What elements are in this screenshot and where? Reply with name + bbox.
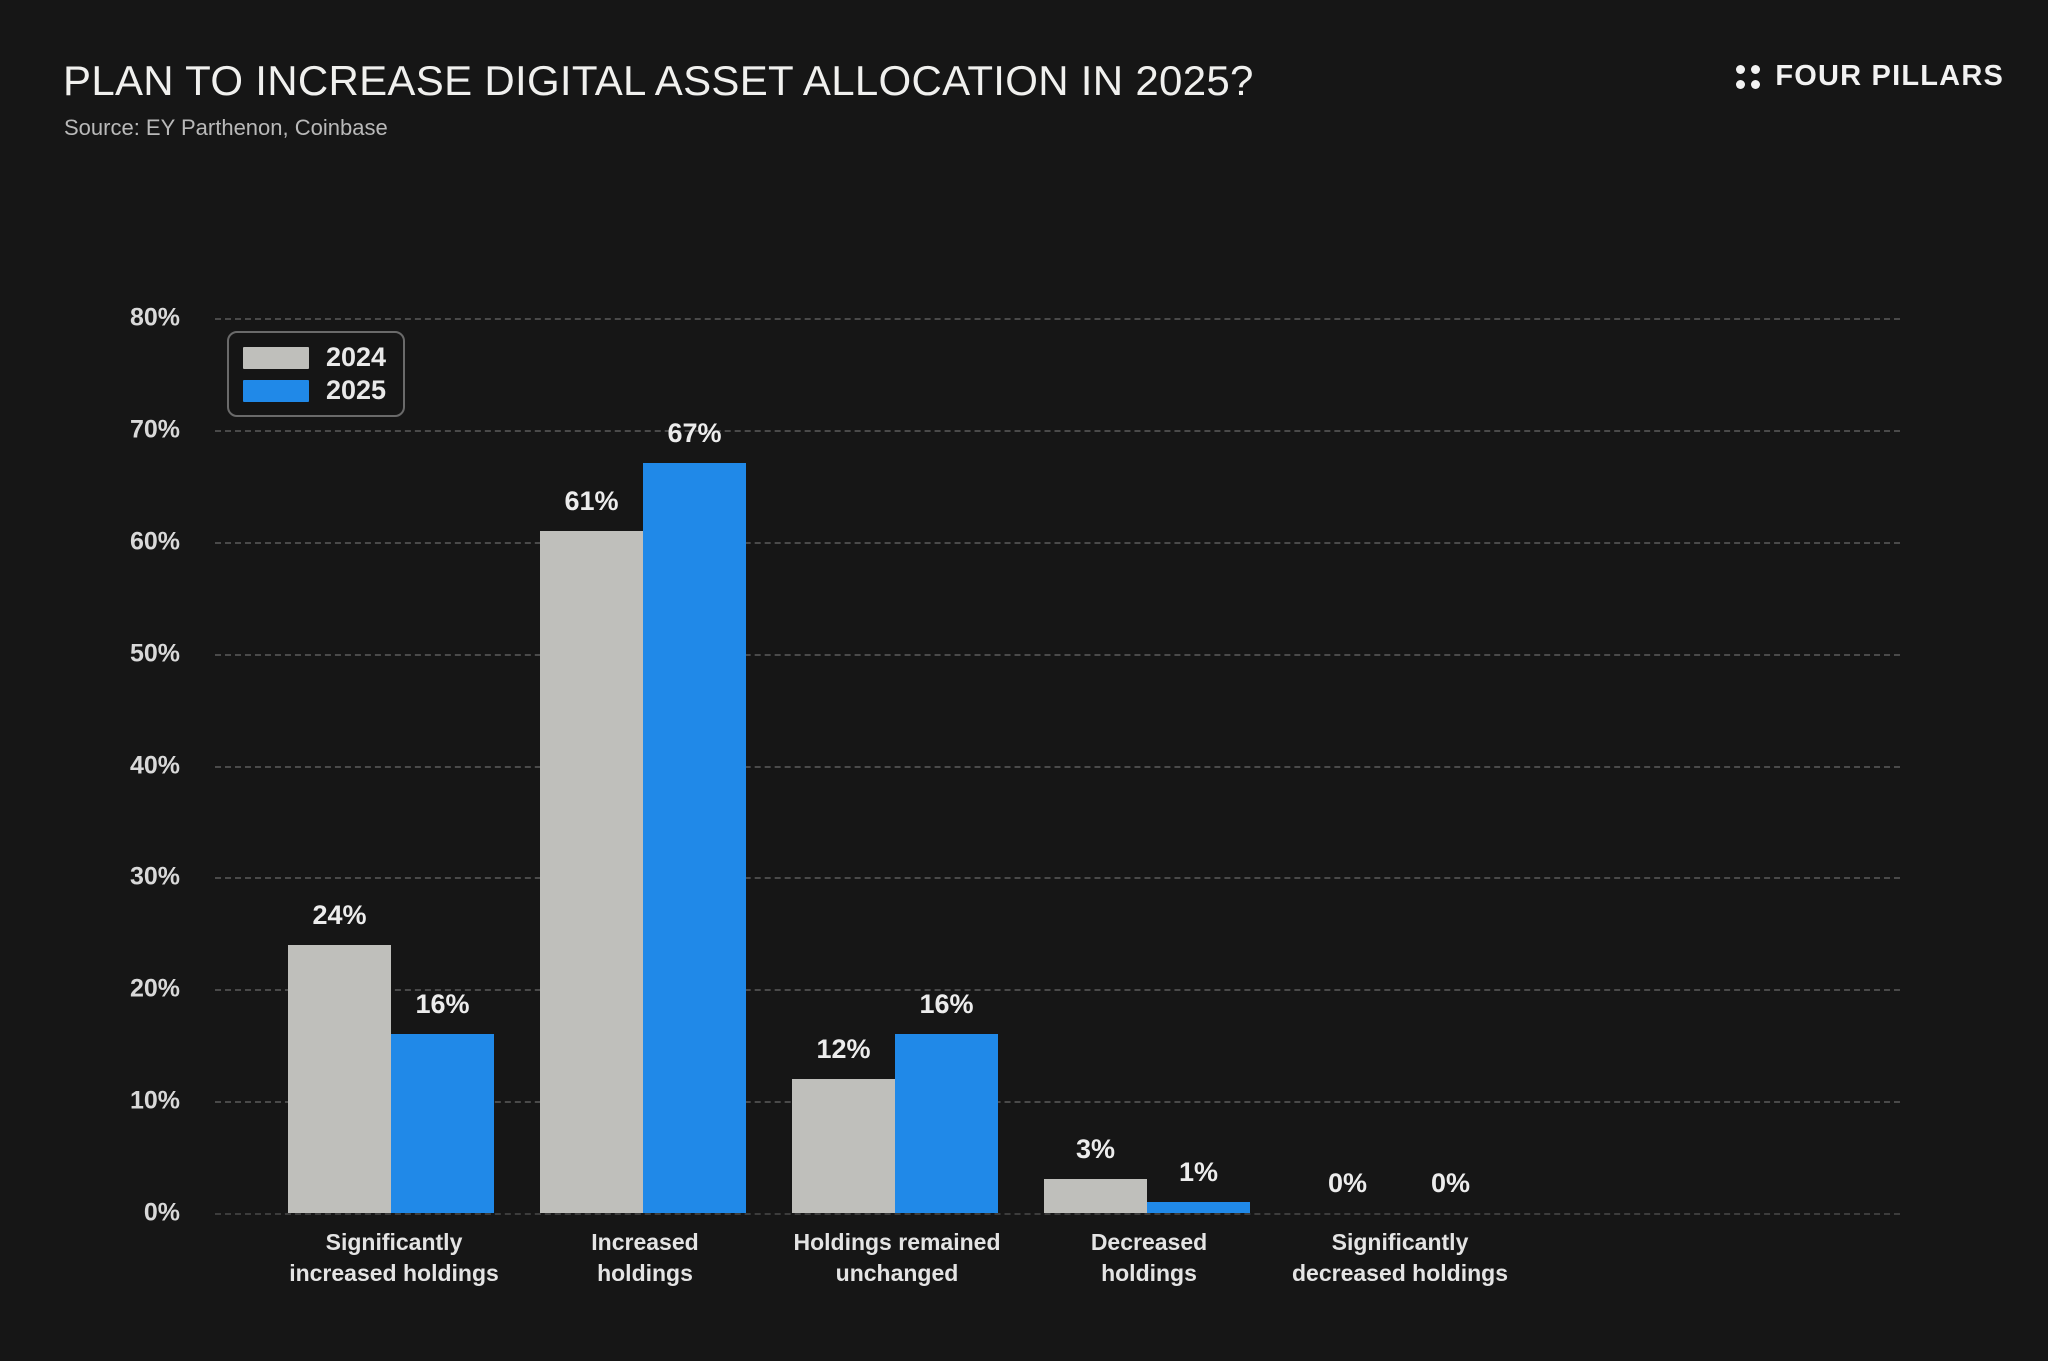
- y-tick-label: 80%: [60, 304, 180, 333]
- bar-2025-4[interactable]: 1%: [1147, 1202, 1250, 1213]
- x-axis-label: Significantlydecreased holdings: [1240, 1227, 1560, 1288]
- bar-group: 0%0%: [1296, 318, 1502, 1213]
- bar-2024-5[interactable]: 0%: [1296, 1212, 1399, 1213]
- plot-area: 24%16%61%67%12%16%3%1%0%0%: [215, 318, 1900, 1213]
- x-axis-label-line: Significantly: [1240, 1227, 1560, 1258]
- y-tick-label: 60%: [60, 527, 180, 556]
- bar-2025-5[interactable]: 0%: [1399, 1212, 1502, 1213]
- bar-value-label: 16%: [415, 989, 469, 1020]
- bar-value-label: 61%: [564, 486, 618, 517]
- bar-2025-1[interactable]: 16%: [391, 1034, 494, 1213]
- bar-2024-2[interactable]: 61%: [540, 531, 643, 1213]
- bar-group: 12%16%: [792, 318, 998, 1213]
- bar-value-label: 67%: [667, 418, 721, 449]
- bar-value-label: 16%: [919, 989, 973, 1020]
- y-tick-label: 10%: [60, 1087, 180, 1116]
- bar-group: 24%16%: [288, 318, 494, 1213]
- bar-fill: [1044, 1179, 1147, 1213]
- bar-2025-2[interactable]: 67%: [643, 463, 746, 1213]
- bar-2024-1[interactable]: 24%: [288, 945, 391, 1214]
- bar-fill: [391, 1034, 494, 1213]
- bar-value-label: 0%: [1328, 1168, 1367, 1199]
- y-tick-label: 20%: [60, 975, 180, 1004]
- bar-fill: [1147, 1202, 1250, 1213]
- y-tick-label: 0%: [60, 1199, 180, 1228]
- bar-fill: [895, 1034, 998, 1213]
- y-tick-label: 40%: [60, 751, 180, 780]
- bar-2024-4[interactable]: 3%: [1044, 1179, 1147, 1213]
- bar-fill: [540, 531, 643, 1213]
- bar-value-label: 0%: [1431, 1168, 1470, 1199]
- bar-fill: [792, 1079, 895, 1213]
- bar-value-label: 3%: [1076, 1134, 1115, 1165]
- gridline-0%: [215, 1213, 1900, 1215]
- bar-group: 3%1%: [1044, 318, 1250, 1213]
- bar-fill: [643, 463, 746, 1213]
- bar-fill: [288, 945, 391, 1214]
- chart-page: { "header": { "title": "PLAN TO INCREASE…: [0, 0, 2048, 1361]
- y-tick-label: 70%: [60, 415, 180, 444]
- y-tick-label: 30%: [60, 863, 180, 892]
- bar-group: 61%67%: [540, 318, 746, 1213]
- bar-value-label: 12%: [816, 1034, 870, 1065]
- y-tick-label: 50%: [60, 639, 180, 668]
- bar-value-label: 1%: [1179, 1157, 1218, 1188]
- bar-2025-3[interactable]: 16%: [895, 1034, 998, 1213]
- x-axis-label-line: decreased holdings: [1240, 1258, 1560, 1289]
- bar-2024-3[interactable]: 12%: [792, 1079, 895, 1213]
- bar-chart: 0%10%20%30%40%50%60%70%80% 2024 2025 24%…: [0, 0, 2048, 1361]
- bar-value-label: 24%: [312, 900, 366, 931]
